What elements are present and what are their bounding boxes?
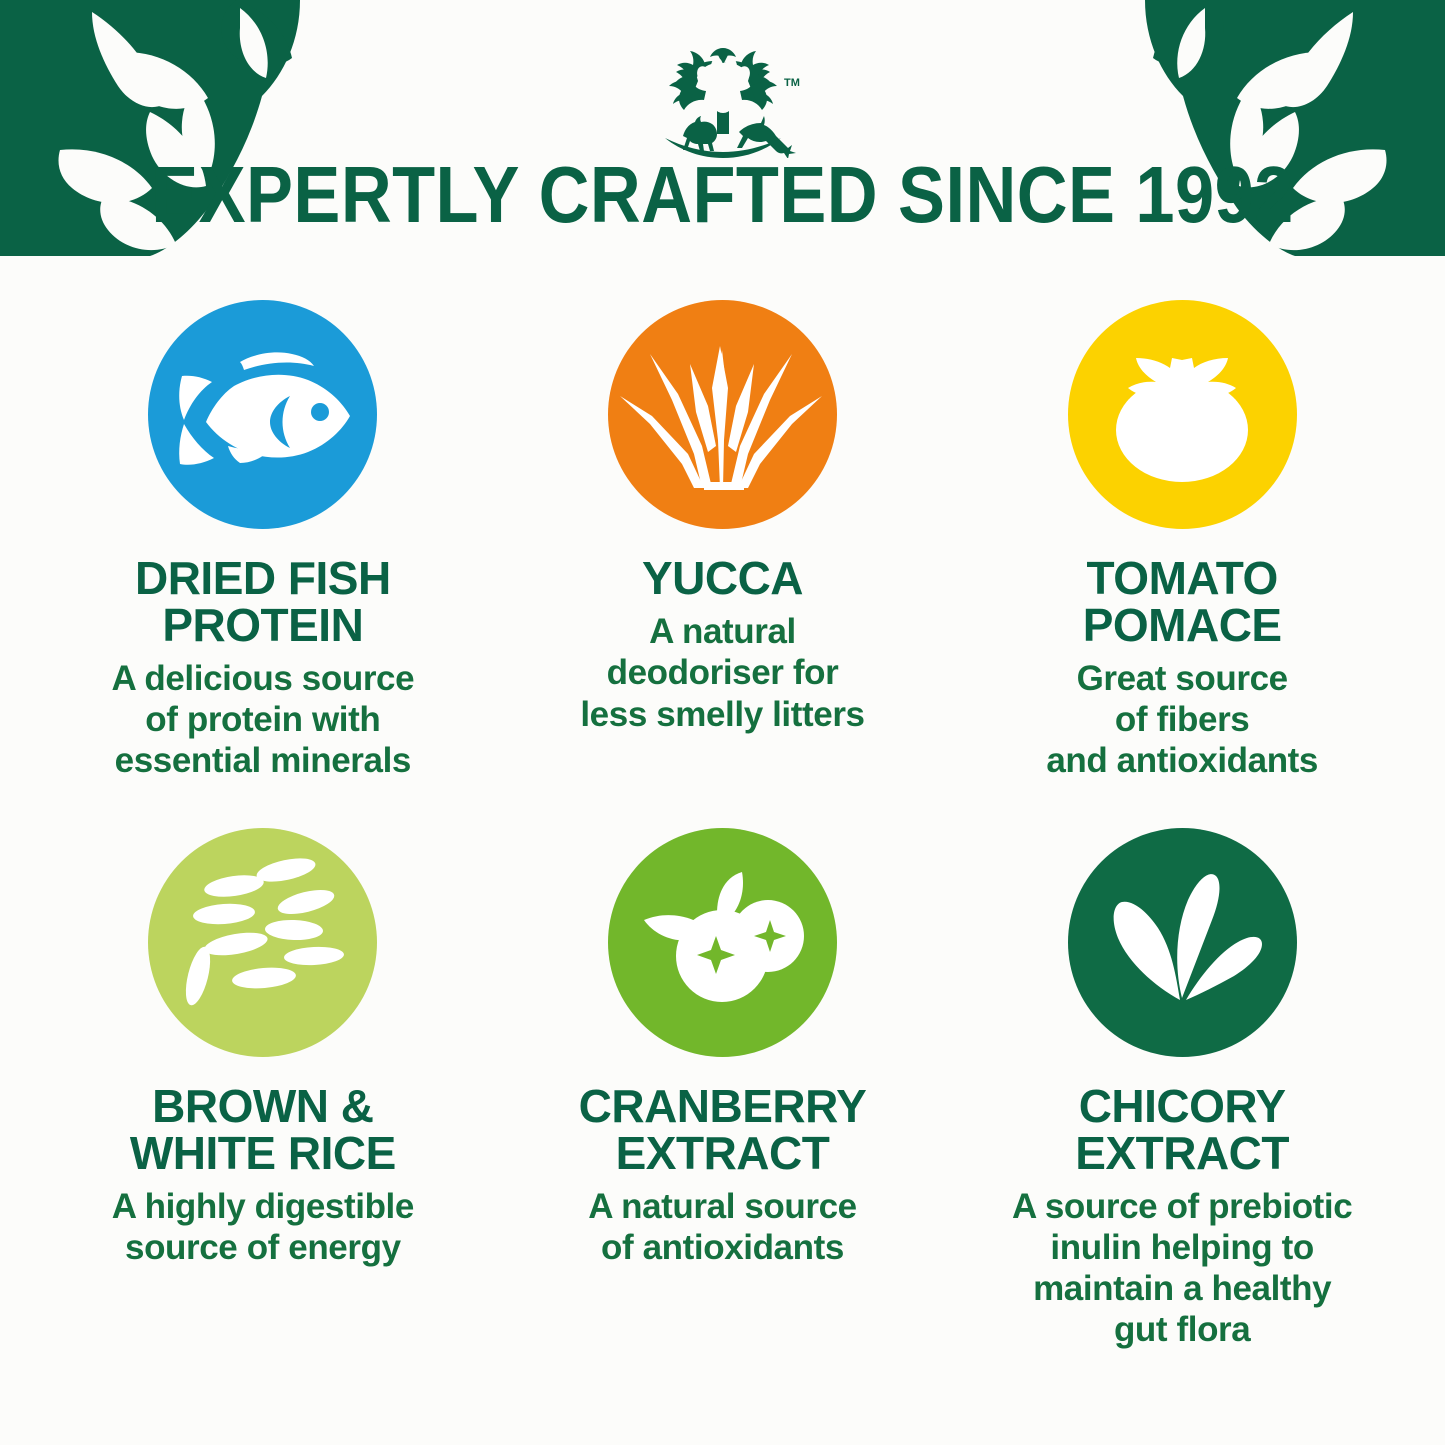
ingredient-description: Great source of fibers and antioxidants xyxy=(1046,658,1318,782)
ingredient-card-chicory-extract: CHICORY EXTRACT A source of prebiotic in… xyxy=(955,828,1409,1351)
ingredients-grid: DRIED FISH PROTEIN A delicious source of… xyxy=(36,300,1409,1351)
ingredient-description: A delicious source of protein with essen… xyxy=(111,658,414,782)
tree-with-paw-cat-dog-logo-icon: TM xyxy=(643,40,803,158)
ingredient-title: CRANBERRY EXTRACT xyxy=(579,1083,867,1177)
ingredient-description: A source of prebiotic inulin helping to … xyxy=(1012,1186,1352,1351)
ingredient-title: YUCCA xyxy=(642,555,803,602)
ingredient-card-dried-fish-protein: DRIED FISH PROTEIN A delicious source of… xyxy=(36,300,490,782)
ingredient-description: A natural deodoriser for less smelly lit… xyxy=(580,611,864,735)
badge-chicory-extract xyxy=(1068,828,1297,1057)
badge-dried-fish-protein xyxy=(148,300,377,529)
badge-cranberry-extract xyxy=(608,828,837,1057)
ingredient-title: BROWN & WHITE RICE xyxy=(130,1083,396,1177)
cranberry-icon xyxy=(608,828,837,1057)
ingredient-card-tomato-pomace: TOMATO POMACE Great source of fibers and… xyxy=(955,300,1409,782)
ingredient-card-cranberry-extract: CRANBERRY EXTRACT A natural source of an… xyxy=(496,828,950,1351)
ingredient-description: A highly digestible source of energy xyxy=(112,1186,414,1269)
ingredient-benefits-infographic: TM EXPERTLY CRAFTED SINCE 1992 xyxy=(0,0,1445,1445)
trademark-symbol: TM xyxy=(784,77,800,89)
ingredient-title: CHICORY EXTRACT xyxy=(1075,1083,1289,1177)
ingredient-card-yucca: YUCCA A natural deodoriser for less smel… xyxy=(496,300,950,782)
yucca-plant-icon xyxy=(608,300,837,529)
ingredient-title: TOMATO POMACE xyxy=(1083,555,1282,649)
ingredient-card-brown-white-rice: BROWN & WHITE RICE A highly digestible s… xyxy=(36,828,490,1351)
badge-brown-white-rice xyxy=(148,828,377,1057)
page-title: EXPERTLY CRAFTED SINCE 1992 xyxy=(87,155,1359,235)
tomato-icon xyxy=(1068,300,1297,529)
fish-icon xyxy=(148,300,377,529)
ingredient-title: DRIED FISH PROTEIN xyxy=(135,555,391,649)
ingredient-description: A natural source of antioxidants xyxy=(588,1186,857,1269)
rice-grains-icon xyxy=(148,828,377,1057)
badge-yucca xyxy=(608,300,837,529)
badge-tomato-pomace xyxy=(1068,300,1297,529)
chicory-leaves-icon xyxy=(1068,828,1297,1057)
